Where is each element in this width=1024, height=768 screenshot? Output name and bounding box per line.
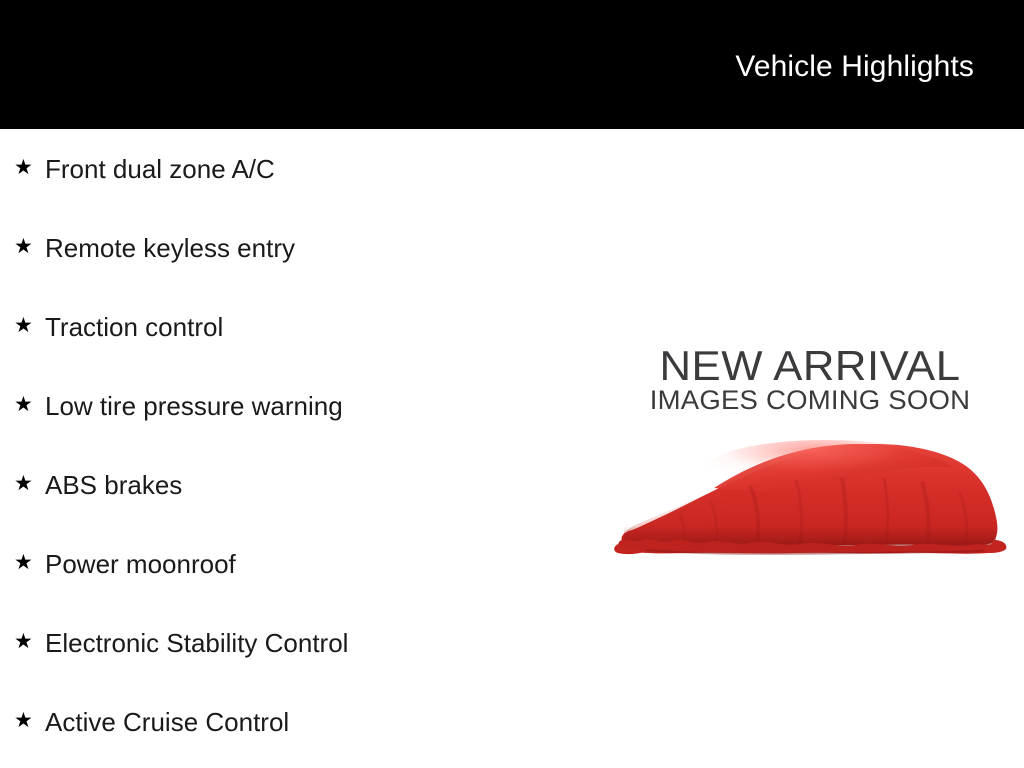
new-arrival-text-block: NEW ARRIVAL IMAGES COMING SOON [610,344,1010,415]
vehicle-highlights-list: ★ Front dual zone A/C ★ Remote keyless e… [0,129,600,761]
list-item-label: Remote keyless entry [45,233,295,263]
page-title: Vehicle Highlights [735,50,974,84]
list-item-label: Electronic Stability Control [45,628,348,658]
star-bullet-icon: ★ [14,394,45,415]
star-bullet-icon: ★ [14,710,45,731]
list-item: ★ ABS brakes [0,445,600,524]
new-arrival-placeholder-image: NEW ARRIVAL IMAGES COMING SOON [610,344,1010,584]
list-item: ★ Power moonroof [0,524,600,603]
new-arrival-subline: IMAGES COMING SOON [606,386,1014,415]
list-item: ★ Electronic Stability Control [0,603,600,682]
star-bullet-icon: ★ [14,552,45,573]
star-bullet-icon: ★ [14,631,45,652]
list-item-label: Low tire pressure warning [45,391,343,421]
list-item-label: Front dual zone A/C [45,154,275,184]
list-item: ★ Remote keyless entry [0,208,600,287]
covered-car-icon [610,422,1010,577]
new-arrival-headline: NEW ARRIVAL [602,344,1018,388]
list-item: ★ Front dual zone A/C [0,129,600,208]
star-bullet-icon: ★ [14,157,45,178]
list-item: ★ Active Cruise Control [0,682,600,761]
list-item: ★ Low tire pressure warning [0,366,600,445]
main-content: ★ Front dual zone A/C ★ Remote keyless e… [0,129,1024,768]
list-item: ★ Traction control [0,287,600,366]
list-item-label: Traction control [45,312,223,342]
star-bullet-icon: ★ [14,315,45,336]
list-item-label: Power moonroof [45,549,236,579]
page-header: Vehicle Highlights [0,0,1024,129]
list-item-label: ABS brakes [45,470,182,500]
star-bullet-icon: ★ [14,236,45,257]
star-bullet-icon: ★ [14,473,45,494]
list-item-label: Active Cruise Control [45,707,289,737]
